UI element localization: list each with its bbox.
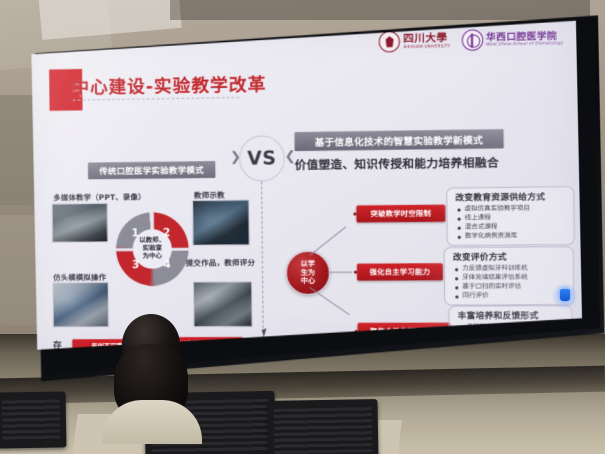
- row-1-tag-label: 突破教学时空限制: [370, 208, 431, 219]
- west-china-stomatology-logo: 华西口腔医学院 West China School of Stomatology: [461, 28, 563, 51]
- seat-back: [267, 399, 378, 454]
- left-column-header: 传统口腔医学实验教学模式: [88, 161, 216, 179]
- row-1-card-title: 改变教育资源供给方式: [455, 190, 566, 203]
- donut-number-3: 3: [132, 258, 140, 271]
- row-1-tag: 突破教学时空限制: [356, 205, 445, 223]
- wcss-seal-icon: [461, 29, 483, 51]
- scu-logo-en: SICHUAN UNIVERSITY: [403, 44, 450, 49]
- presentation-pointer-icon: [262, 328, 269, 336]
- right-column-header-label: 基于信息化技术的智慧实验教学新模式: [315, 132, 483, 148]
- ceiling-shadow: [170, 0, 590, 20]
- slide-title-block: 中心建设-实验教学改革: [49, 68, 345, 107]
- wall-panel: [38, 0, 181, 40]
- lecture-hall-photo: 四川大學 SICHUAN UNIVERSITY 华西口腔医学院 West Chi…: [0, 0, 605, 454]
- photo-student-work: [193, 281, 253, 327]
- traditional-cycle-donut: 1 2 3 4 以教师、 实验室 为中心: [116, 212, 189, 286]
- right-column-subtitle: 价值塑造、知识传授和能力培养相融合: [295, 155, 499, 174]
- person-shoulders: [102, 400, 202, 444]
- donut-number-4: 4: [163, 258, 171, 271]
- row-2-bullet-3: 基于口扫的实时评估: [453, 282, 566, 292]
- caption-submit: 提交作品，教师评分: [186, 257, 255, 268]
- connector-line-2: [328, 272, 352, 273]
- connector-line-3: [309, 287, 349, 315]
- column-divider: [261, 181, 264, 343]
- connector-line-1: [310, 226, 347, 255]
- donut-number-1: 1: [131, 226, 139, 239]
- seated-person: [108, 314, 194, 432]
- student-centered-node: 以学 生为 中心: [286, 251, 330, 295]
- slide-title: 中心建设-实验教学改革: [71, 71, 266, 100]
- seat-back: [0, 391, 66, 448]
- row-2-bullet-4: 同行评价: [453, 291, 566, 301]
- row-2-bullet-2: 牙体充填结果评估系统: [453, 273, 566, 283]
- row-2-tag: 强化自主学习能力: [357, 263, 443, 281]
- sichuan-university-logo: 四川大學 SICHUAN UNIVERSITY: [379, 30, 451, 53]
- caption-multimedia: 多媒体教学（PPT、录像）: [53, 192, 145, 204]
- right-column-header: 基于信息化技术的智慧实验教学新模式: [294, 129, 503, 151]
- row-2-card-title: 改变评价方式: [453, 250, 566, 263]
- vs-label: VS: [247, 147, 276, 169]
- presentation-slide[interactable]: 四川大學 SICHUAN UNIVERSITY 华西口腔医学院 West Chi…: [29, 21, 583, 350]
- wcss-logo-en: West China School of Stomatology: [486, 41, 563, 47]
- left-column-header-label: 传统口腔医学实验教学模式: [99, 164, 204, 177]
- photo-classroom: [51, 203, 108, 243]
- row-1-bullet-list: 虚拟仿真实验教学项目 线上课程 混合式课程 数字化病例资源库: [455, 204, 566, 242]
- vs-badge: VS: [239, 135, 285, 181]
- photo-phantom-head-lab: [52, 282, 109, 328]
- blue-cursor-indicator[interactable]: [560, 289, 570, 301]
- row-1-card: 改变教育资源供给方式 虚拟仿真实验教学项目 线上课程 混合式课程 数字化病例资源…: [446, 186, 575, 246]
- donut-center-line-3: 为中心: [143, 253, 162, 261]
- row-3-card-title: 丰富培养和反馈形式: [458, 309, 565, 321]
- photo-demonstration: [192, 200, 250, 246]
- logo-group: 四川大學 SICHUAN UNIVERSITY 华西口腔医学院 West Chi…: [379, 28, 563, 53]
- center-node-line-3: 中心: [301, 277, 315, 286]
- donut-number-2: 2: [163, 226, 171, 239]
- row-1-bullet-4: 数字化病例资源库: [456, 231, 567, 241]
- scu-seal-icon: [379, 31, 400, 53]
- row-2-bullet-list: 力反馈虚拟牙科训练机 牙体充填结果评估系统 基于口扫的实时评估 同行评价: [453, 263, 566, 300]
- row-2-tag-label: 强化自主学习能力: [370, 267, 431, 277]
